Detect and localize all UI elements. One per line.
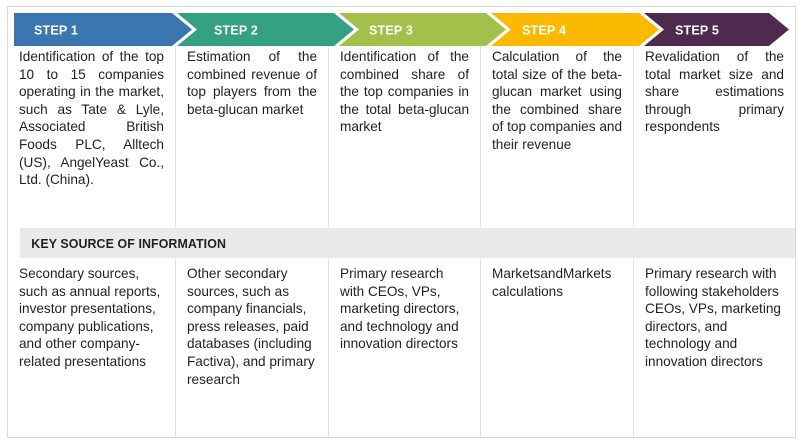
key-source-text-4: MarketsandMarkets calculations — [481, 259, 633, 300]
key-source-text-3: Primary research with CEOs, VPs, marketi… — [329, 259, 480, 353]
key-source-of-information-title: KEY SOURCE OF INFORMATION — [20, 236, 226, 251]
step-1-label: STEP 1 — [34, 24, 78, 38]
key-source-cell-3: Primary research with CEOs, VPs, marketi… — [328, 259, 480, 437]
step-3-description-text: Identification of the combined share of … — [329, 46, 480, 136]
step-2-description-text: Estimation of the combined revenue of to… — [176, 46, 328, 118]
step-4-description-cell: Calculation of the total size of the bet… — [480, 46, 633, 227]
key-source-text-5: Primary research with following stakehol… — [634, 259, 795, 371]
key-source-cell-5: Primary research with following stakehol… — [633, 259, 795, 437]
process-flow-figure: STEP 1 STEP 2 STEP 3 STEP 4 STEP 5 Ident… — [0, 0, 803, 446]
step-4-chevron[interactable] — [491, 13, 659, 46]
step-1-description-cell: Identification of the top 10 to 15 compa… — [8, 46, 175, 227]
step-5-label: STEP 5 — [675, 24, 719, 38]
step-4-description-text: Calculation of the total size of the bet… — [481, 46, 633, 154]
key-source-text-1: Secondary sources, such as annual report… — [8, 259, 175, 371]
step-5-description-text: Revalidation of the total market size an… — [634, 46, 795, 136]
key-source-row: Secondary sources, such as annual report… — [8, 259, 795, 437]
step-3-label: STEP 3 — [369, 24, 413, 38]
step-3-description-cell: Identification of the combined share of … — [328, 46, 480, 227]
key-source-cell-1: Secondary sources, such as annual report… — [8, 259, 175, 437]
key-source-of-information-band: KEY SOURCE OF INFORMATION — [20, 228, 795, 258]
key-source-cell-4: MarketsandMarkets calculations — [480, 259, 633, 437]
step-3-chevron[interactable] — [339, 13, 506, 46]
step-2-chevron[interactable] — [177, 13, 354, 46]
steps-header-strip: STEP 1 STEP 2 STEP 3 STEP 4 STEP 5 — [14, 13, 789, 46]
step-2-label: STEP 2 — [214, 24, 258, 38]
step-2-description-cell: Estimation of the combined revenue of to… — [175, 46, 328, 227]
steps-chevron-svg: STEP 1 STEP 2 STEP 3 STEP 4 STEP 5 — [14, 13, 789, 46]
step-1-description-text: Identification of the top 10 to 15 compa… — [8, 46, 175, 189]
step-4-label: STEP 4 — [522, 24, 566, 38]
step-5-description-cell: Revalidation of the total market size an… — [633, 46, 795, 227]
key-source-cell-2: Other secondary sources, such as company… — [175, 259, 328, 437]
step-descriptions-row: Identification of the top 10 to 15 compa… — [8, 46, 795, 227]
key-source-text-2: Other secondary sources, such as company… — [176, 259, 328, 388]
